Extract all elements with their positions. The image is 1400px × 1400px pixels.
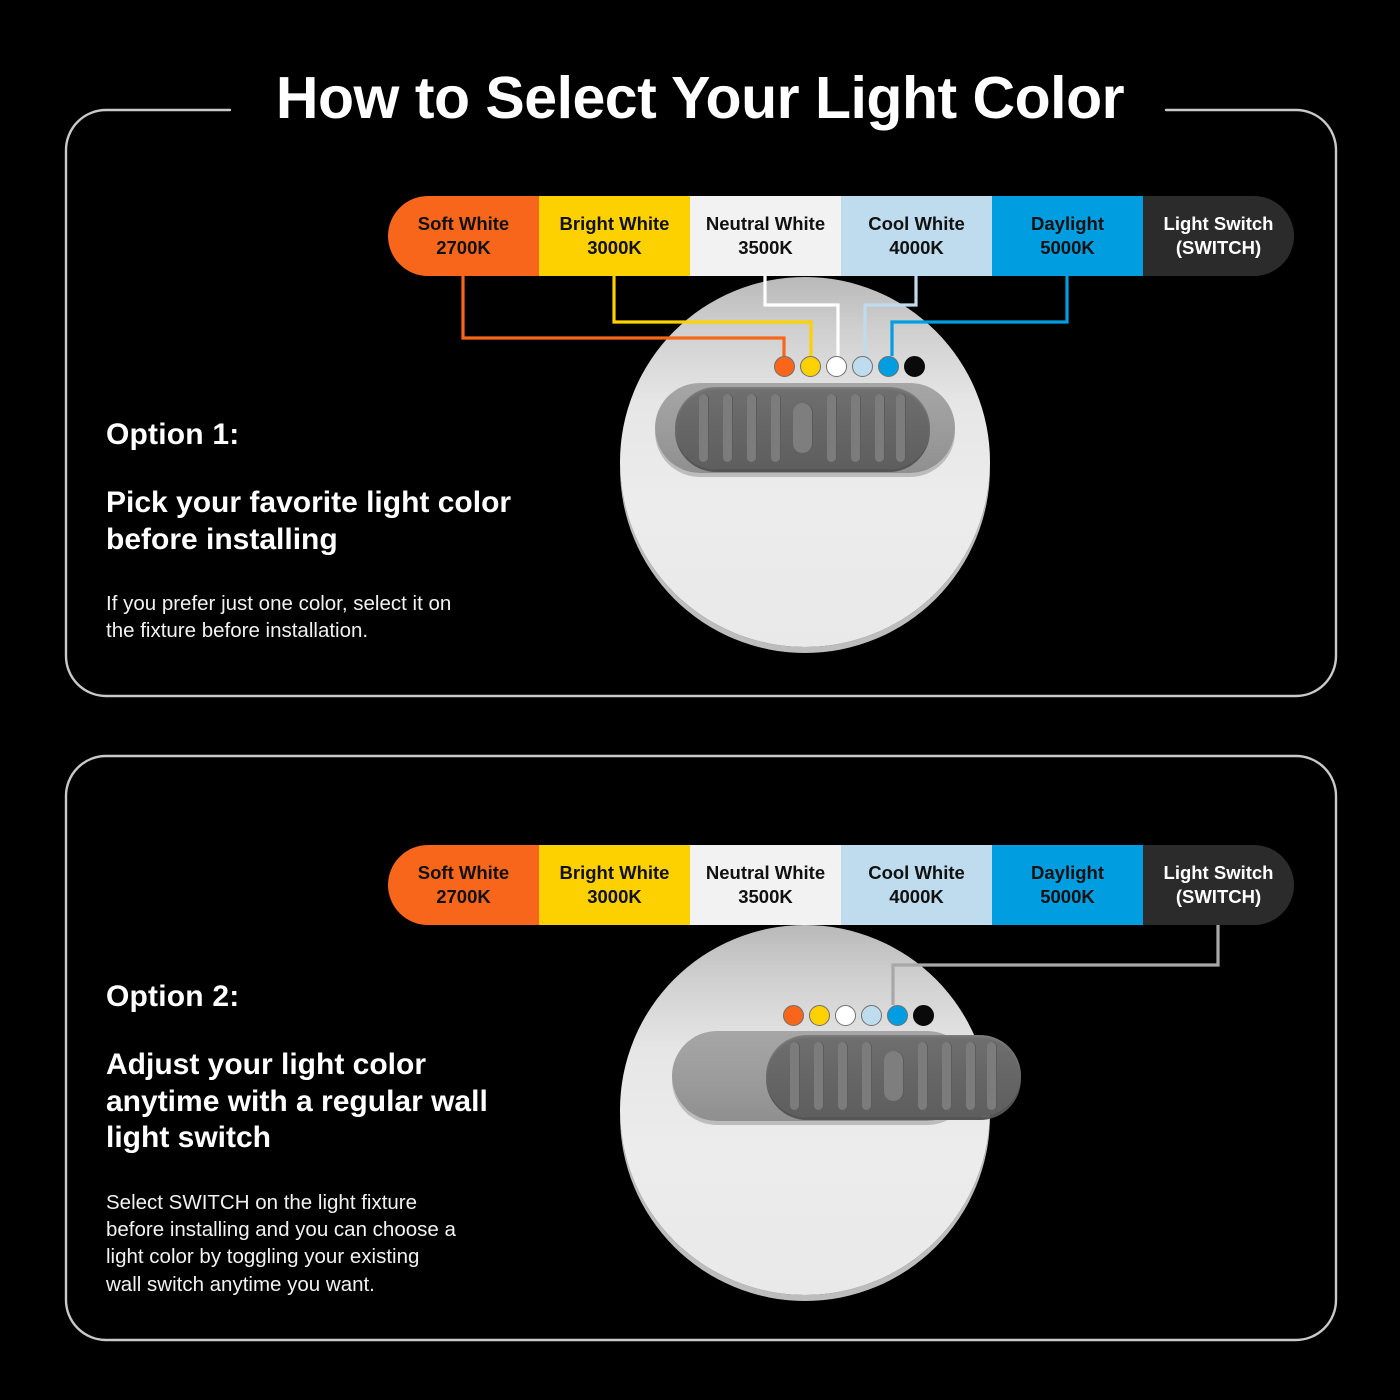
swatch-name: Bright White xyxy=(560,212,670,236)
swatch-daylight[interactable]: Daylight 5000K xyxy=(992,845,1143,925)
option-2-text: Option 2: Adjust your light color anytim… xyxy=(106,980,556,1298)
rocker-ridge xyxy=(699,394,708,461)
option-1-heading: Pick your favorite light color before in… xyxy=(106,485,546,558)
option-2-heading-line-2: anytime with a regular wall xyxy=(106,1084,556,1121)
rocker-ridge xyxy=(851,394,860,461)
color-dot-bright-white[interactable] xyxy=(800,356,821,377)
rocker-ridge xyxy=(747,394,756,461)
option-1-heading-line-1: Pick your favorite light color xyxy=(106,485,546,522)
swatch-cool-white[interactable]: Cool White 4000K xyxy=(841,845,992,925)
swatch-kelvin: 3500K xyxy=(738,236,793,260)
swatch-name: Daylight xyxy=(1031,861,1104,885)
rocker-ridge xyxy=(862,1042,871,1109)
rocker-ridge-center xyxy=(793,403,812,452)
option-1-text: Option 1: Pick your favorite light color… xyxy=(106,418,546,645)
color-dot-light-switch[interactable] xyxy=(904,356,925,377)
rocker-ridge xyxy=(942,1042,951,1109)
color-dot-daylight[interactable] xyxy=(878,356,899,377)
color-dot-daylight[interactable] xyxy=(887,1005,908,1026)
swatch-name: Daylight xyxy=(1031,212,1104,236)
swatch-name: Cool White xyxy=(868,861,965,885)
swatch-light-switch[interactable]: Light Switch (SWITCH) xyxy=(1143,845,1294,925)
swatch-cool-white[interactable]: Cool White 4000K xyxy=(841,196,992,276)
rocker-ridge xyxy=(723,394,732,461)
swatch-kelvin: 3500K xyxy=(738,885,793,909)
option-2-body: Select SWITCH on the light fixture befor… xyxy=(106,1189,556,1298)
rocker-ridge xyxy=(875,394,884,461)
rocker-ridge xyxy=(918,1042,927,1109)
color-dots-option-1 xyxy=(774,356,925,377)
rocker-ridge xyxy=(987,1042,996,1109)
option-2-heading: Adjust your light color anytime with a r… xyxy=(106,1047,556,1157)
swatch-kelvin: 5000K xyxy=(1040,885,1095,909)
rocker-ridge xyxy=(771,394,780,461)
swatch-name: Bright White xyxy=(560,861,670,885)
option-1-body-line-1: If you prefer just one color, select it … xyxy=(106,590,546,617)
option-2-body-line-3: light color by toggling your existing xyxy=(106,1243,556,1270)
color-dots-option-2 xyxy=(783,1005,934,1026)
switch-rocker-2[interactable] xyxy=(766,1035,1021,1117)
color-dot-soft-white[interactable] xyxy=(783,1005,804,1026)
option-2-heading-line-3: light switch xyxy=(106,1120,556,1157)
rocker-ridge xyxy=(838,1042,847,1109)
swatch-kelvin: 2700K xyxy=(436,236,491,260)
swatch-daylight[interactable]: Daylight 5000K xyxy=(992,196,1143,276)
rocker-ridge xyxy=(827,394,836,461)
option-1-body-line-2: the fixture before installation. xyxy=(106,617,546,644)
swatch-light-switch[interactable]: Light Switch (SWITCH) xyxy=(1143,196,1294,276)
option-1-body: If you prefer just one color, select it … xyxy=(106,590,546,645)
option-2-body-line-2: before installing and you can choose a xyxy=(106,1216,556,1243)
switch-rocker-1[interactable] xyxy=(675,387,930,469)
swatch-soft-white[interactable]: Soft White 2700K xyxy=(388,845,539,925)
swatch-bright-white[interactable]: Bright White 3000K xyxy=(539,196,690,276)
option-1-label: Option 1: xyxy=(106,418,546,452)
rocker-ridge xyxy=(966,1042,975,1109)
swatch-kelvin: 3000K xyxy=(587,885,642,909)
swatch-name: Neutral White xyxy=(706,861,825,885)
option-2-body-line-4: wall switch anytime you want. xyxy=(106,1271,556,1298)
swatch-name: Soft White xyxy=(418,861,509,885)
swatch-neutral-white[interactable]: Neutral White 3500K xyxy=(690,196,841,276)
swatch-name: Light Switch xyxy=(1164,861,1274,885)
swatch-name: Light Switch xyxy=(1164,212,1274,236)
infographic-page: How to Select Your Light Color xyxy=(0,0,1400,1400)
swatch-neutral-white[interactable]: Neutral White 3500K xyxy=(690,845,841,925)
color-dot-neutral-white[interactable] xyxy=(835,1005,856,1026)
swatch-soft-white[interactable]: Soft White 2700K xyxy=(388,196,539,276)
swatch-bright-white[interactable]: Bright White 3000K xyxy=(539,845,690,925)
swatch-name: Soft White xyxy=(418,212,509,236)
rocker-ridge xyxy=(814,1042,823,1109)
color-dot-neutral-white[interactable] xyxy=(826,356,847,377)
swatch-kelvin: 3000K xyxy=(587,236,642,260)
swatch-kelvin: 5000K xyxy=(1040,236,1095,260)
swatch-kelvin: (SWITCH) xyxy=(1176,885,1261,909)
swatch-name: Neutral White xyxy=(706,212,825,236)
option-2-label: Option 2: xyxy=(106,980,556,1014)
color-dot-bright-white[interactable] xyxy=(809,1005,830,1026)
rocker-ridge-center xyxy=(884,1051,903,1100)
color-bar-option-1: Soft White 2700K Bright White 3000K Neut… xyxy=(388,196,1294,276)
option-2-heading-line-1: Adjust your light color xyxy=(106,1047,556,1084)
color-dot-cool-white[interactable] xyxy=(861,1005,882,1026)
swatch-name: Cool White xyxy=(868,212,965,236)
swatch-kelvin: (SWITCH) xyxy=(1176,236,1261,260)
swatch-kelvin: 2700K xyxy=(436,885,491,909)
option-1-heading-line-2: before installing xyxy=(106,522,546,559)
color-dot-cool-white[interactable] xyxy=(852,356,873,377)
swatch-kelvin: 4000K xyxy=(889,236,944,260)
rocker-ridge xyxy=(790,1042,799,1109)
swatch-kelvin: 4000K xyxy=(889,885,944,909)
color-bar-option-2: Soft White 2700K Bright White 3000K Neut… xyxy=(388,845,1294,925)
color-dot-soft-white[interactable] xyxy=(774,356,795,377)
color-dot-light-switch[interactable] xyxy=(913,1005,934,1026)
page-title: How to Select Your Light Color xyxy=(0,68,1400,130)
option-2-body-line-1: Select SWITCH on the light fixture xyxy=(106,1189,556,1216)
rocker-ridge xyxy=(896,394,905,461)
